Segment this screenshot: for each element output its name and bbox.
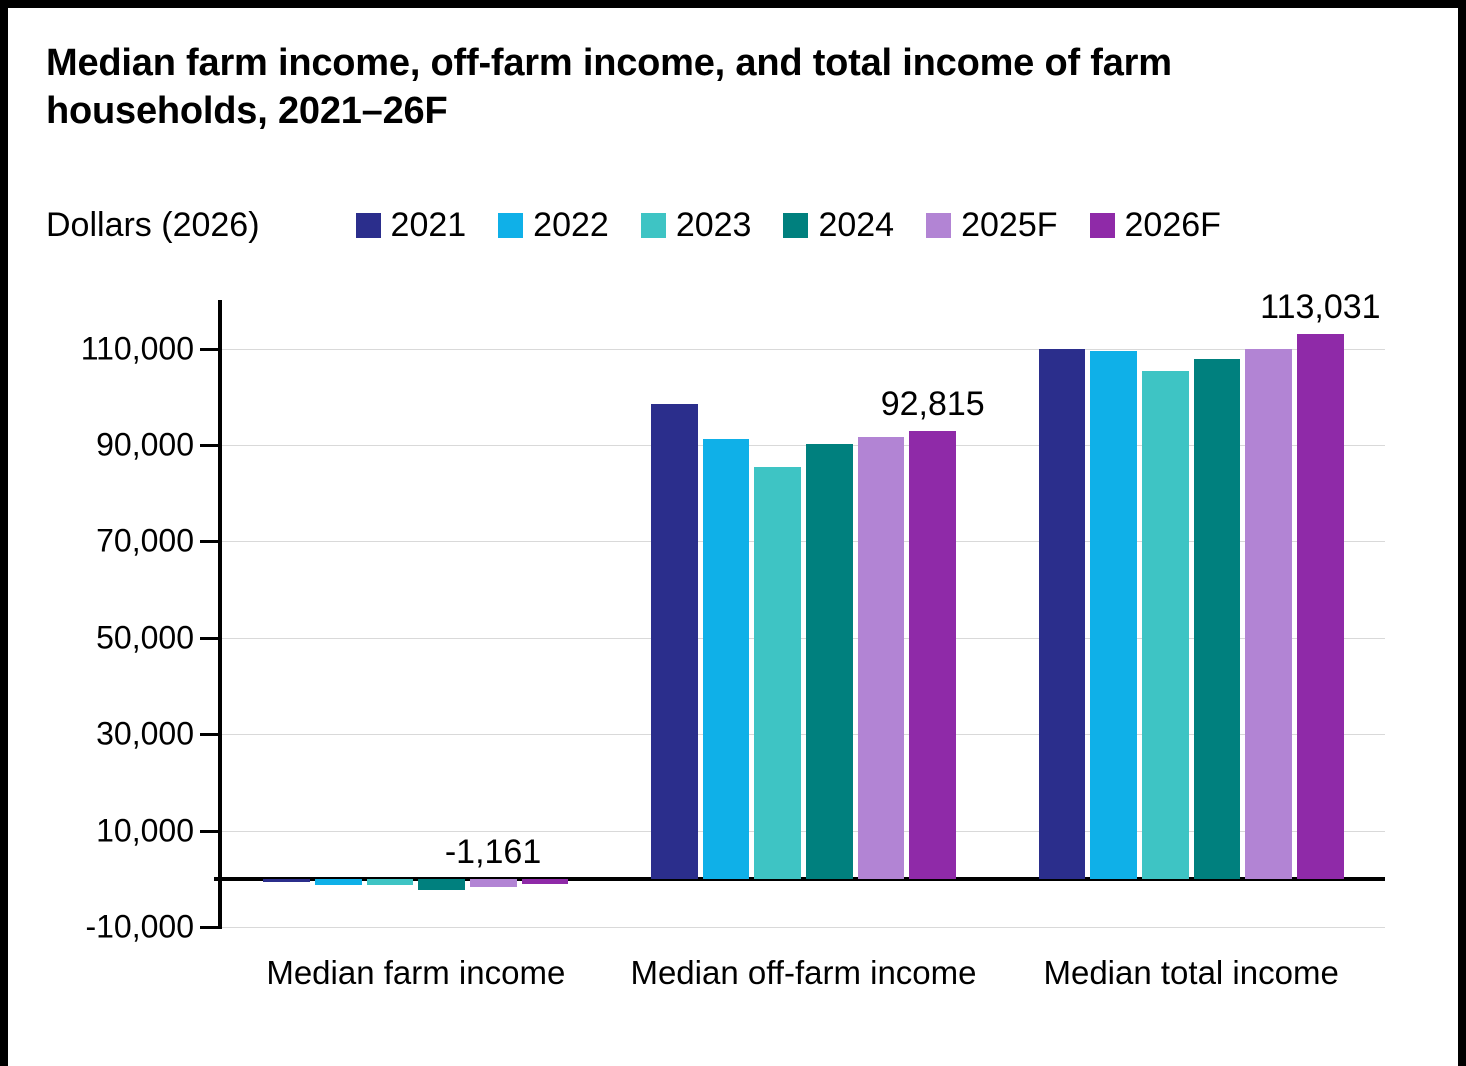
bar-2021-median-off-farm-income[interactable] <box>651 404 698 879</box>
y-axis-tick-label: 50,000 <box>96 619 194 656</box>
bar-2023-median-total-income[interactable] <box>1142 371 1189 879</box>
bar-2022-median-off-farm-income[interactable] <box>703 439 750 879</box>
bar-2025f-median-farm-income[interactable] <box>470 879 517 887</box>
y-axis-tick-label: 70,000 <box>96 523 194 560</box>
y-axis-tick-label: 90,000 <box>96 426 194 463</box>
bar-2024-median-off-farm-income[interactable] <box>806 444 853 879</box>
y-axis-tick <box>200 830 222 833</box>
gridline <box>222 349 1385 350</box>
y-axis-tick <box>200 348 222 351</box>
bar-2023-median-farm-income[interactable] <box>367 879 414 885</box>
y-axis-tick-label: 110,000 <box>81 330 194 367</box>
chart-figure: Median farm income, off-farm income, and… <box>0 0 1466 1066</box>
y-axis-tick <box>200 637 222 640</box>
y-axis-tick <box>200 540 222 543</box>
bar-2021-median-total-income[interactable] <box>1039 349 1086 879</box>
bar-2024-median-total-income[interactable] <box>1194 359 1241 879</box>
bar-2022-median-farm-income[interactable] <box>315 879 362 885</box>
gridline <box>222 927 1385 928</box>
y-axis-tick-label: 30,000 <box>96 716 194 753</box>
x-axis-label-median-total-income: Median total income <box>981 952 1401 994</box>
bar-2023-median-off-farm-income[interactable] <box>754 467 801 879</box>
bar-2026f-median-farm-income[interactable] <box>522 879 569 885</box>
y-axis-tick <box>200 926 222 929</box>
y-axis-tick-label: 10,000 <box>96 812 194 849</box>
plot-area: -1,16192,815113,031 <box>222 310 1385 927</box>
bar-2025f-median-total-income[interactable] <box>1245 349 1292 879</box>
bar-2025f-median-off-farm-income[interactable] <box>858 437 905 879</box>
data-label-2026f-median-total-income: 113,031 <box>1260 288 1380 327</box>
x-axis-label-median-off-farm-income: Median off-farm income <box>594 952 1014 994</box>
bar-2026f-median-total-income[interactable] <box>1297 334 1344 879</box>
data-label-2026f-median-farm-income: -1,161 <box>445 833 541 872</box>
y-axis-tick-label: -10,000 <box>85 909 194 946</box>
bar-2026f-median-off-farm-income[interactable] <box>909 431 956 878</box>
bar-2024-median-farm-income[interactable] <box>418 879 465 891</box>
y-axis-tick <box>200 444 222 447</box>
x-axis-label-median-farm-income: Median farm income <box>206 952 626 994</box>
plot-wrapper: 110,00090,00070,00050,00030,00010,000-10… <box>0 0 1466 1066</box>
bar-2022-median-total-income[interactable] <box>1090 351 1137 879</box>
bar-2021-median-farm-income[interactable] <box>263 879 310 882</box>
data-label-2026f-median-off-farm-income: 92,815 <box>881 385 985 424</box>
y-axis-tick <box>200 733 222 736</box>
